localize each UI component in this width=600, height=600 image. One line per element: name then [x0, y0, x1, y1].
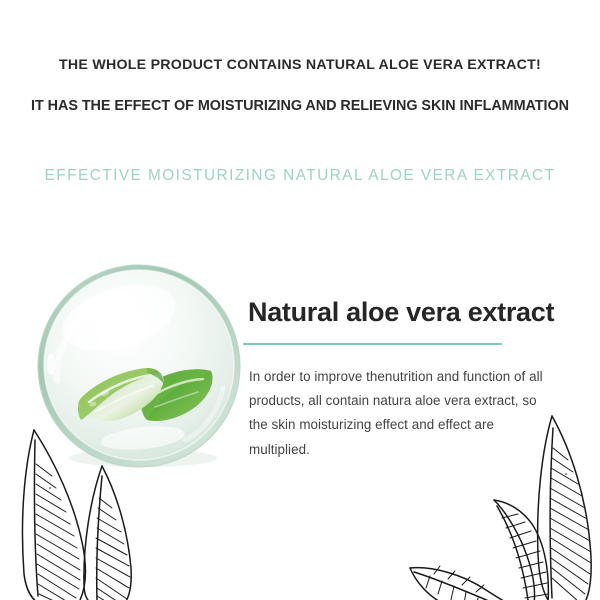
aloe-gel-droplet: [35, 262, 243, 470]
poster-canvas: THE WHOLE PRODUCT CONTAINS NATURAL ALOE …: [0, 0, 600, 600]
headline-line-1: THE WHOLE PRODUCT CONTAINS NATURAL ALOE …: [0, 58, 600, 72]
content-panel: Natural aloe vera extract In order to im…: [243, 298, 573, 476]
headline-line-2: IT HAS THE EFFECT OF MOISTURIZING AND RE…: [0, 99, 600, 113]
body-paragraph: In order to improve thenutrition and fun…: [249, 365, 549, 463]
droplet-graphic: [35, 262, 243, 470]
headline-block: THE WHOLE PRODUCT CONTAINS NATURAL ALOE …: [0, 58, 600, 114]
title-divider: [243, 343, 502, 345]
subheadline: EFFECTIVE MOISTURIZING NATURAL ALOE VERA…: [0, 168, 600, 183]
page-title: Natural aloe vera extract: [248, 298, 573, 328]
